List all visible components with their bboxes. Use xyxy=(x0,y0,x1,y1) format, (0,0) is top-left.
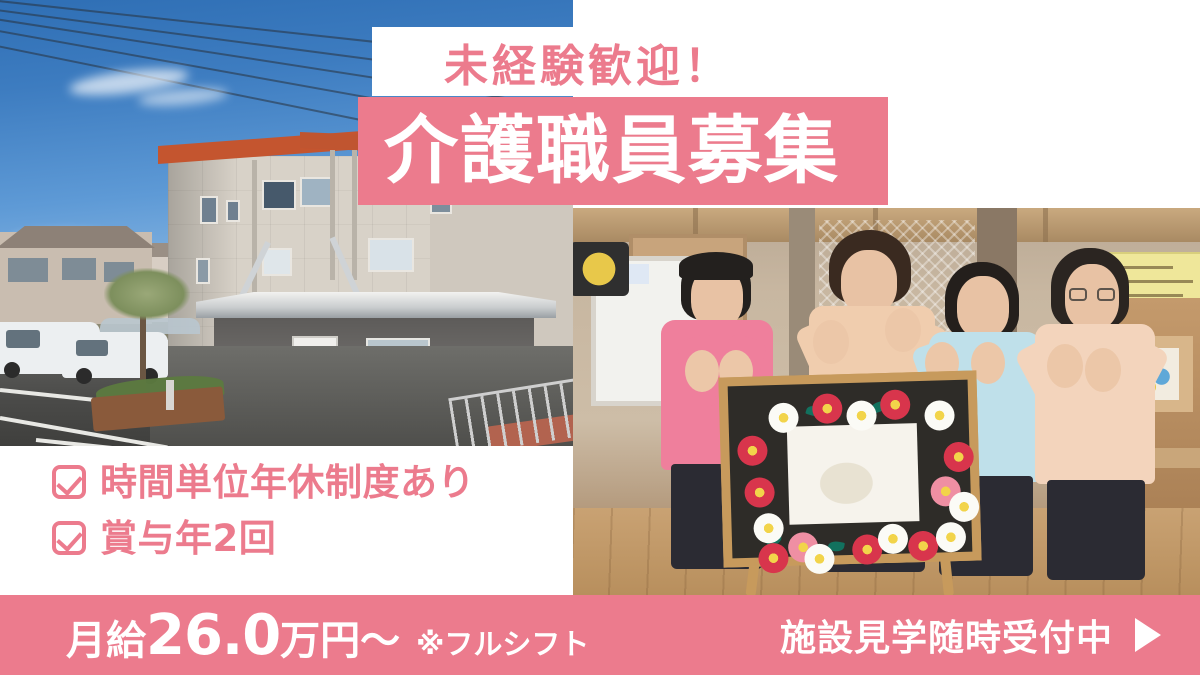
house-window xyxy=(62,258,96,280)
face xyxy=(841,250,897,314)
subheadline-text: 未経験歓迎！ xyxy=(444,30,732,94)
salary-note-label: ※フルシフト xyxy=(416,621,589,663)
building-window xyxy=(300,177,334,207)
feature-list-panel: 時間単位年休制度あり 賞与年2回 xyxy=(0,446,573,595)
checkbox-checked-icon xyxy=(52,521,86,555)
drain-pipe xyxy=(330,150,335,280)
play-arrow-icon xyxy=(1135,618,1161,652)
ceiling-beam xyxy=(1043,208,1048,242)
decorated-blackboard xyxy=(718,370,981,567)
cta-label: 施設見学随時受付中 xyxy=(780,609,1113,661)
drawn-illustration xyxy=(799,440,901,511)
trousers xyxy=(1047,480,1145,580)
hand-heart-gesture xyxy=(1047,344,1083,388)
drain-pipe xyxy=(352,150,357,280)
hand-heart-gesture xyxy=(885,308,921,352)
feature-label: 時間単位年休制度あり xyxy=(100,464,475,501)
feature-item: 時間単位年休制度あり xyxy=(52,454,475,510)
main-headline-text: 介護職員募集 xyxy=(384,114,840,188)
face xyxy=(957,276,1009,338)
van-wheel xyxy=(76,368,92,384)
camellia-flower xyxy=(949,491,980,522)
hand-heart-gesture xyxy=(685,350,719,392)
hand-heart-gesture xyxy=(813,320,849,364)
building-window xyxy=(368,238,414,272)
subheadline-band: 未経験歓迎！ xyxy=(372,27,1200,96)
recruitment-banner: 時間単位年休制度あり 賞与年2回 未経験歓迎！ 介護職員募集 月給 26.0 万… xyxy=(0,0,1200,675)
facility-tour-cta[interactable]: 施設見学随時受付中 xyxy=(780,609,1161,661)
checkbox-checked-icon xyxy=(52,465,86,499)
main-headline-band: 介護職員募集 xyxy=(358,97,888,205)
building-window xyxy=(226,200,240,222)
house-window xyxy=(8,258,48,282)
salary-unit-label: 万円～ xyxy=(280,608,400,666)
entrance-canopy xyxy=(196,292,556,318)
salary-lead-label: 月給 xyxy=(66,608,146,666)
camellia-flower xyxy=(908,531,939,562)
bollard xyxy=(166,380,174,410)
salary-block: 月給 26.0 万円～ ※フルシフト xyxy=(66,603,589,668)
salary-amount: 26.0 xyxy=(146,603,280,668)
glasses-lens-icon xyxy=(1069,288,1087,301)
building-window xyxy=(262,180,296,210)
van-wheel xyxy=(4,362,20,378)
feature-label: 賞与年2回 xyxy=(100,520,276,557)
notice-text-line xyxy=(1117,266,1173,269)
bottom-info-bar: 月給 26.0 万円～ ※フルシフト 施設見学随時受付中 xyxy=(0,595,1200,675)
feature-item: 賞与年2回 xyxy=(52,510,475,566)
feature-list: 時間単位年休制度あり 賞与年2回 xyxy=(52,454,475,566)
van-window xyxy=(6,330,40,348)
staff-group-photo xyxy=(573,208,1200,595)
van-window xyxy=(76,340,108,356)
building-window xyxy=(196,258,210,284)
tree-foliage xyxy=(104,268,190,320)
fringe xyxy=(679,252,753,280)
building-window xyxy=(200,196,218,224)
wall-decoration xyxy=(573,242,629,296)
hand-heart-gesture xyxy=(1085,348,1121,392)
glasses-lens-icon xyxy=(1097,288,1115,301)
